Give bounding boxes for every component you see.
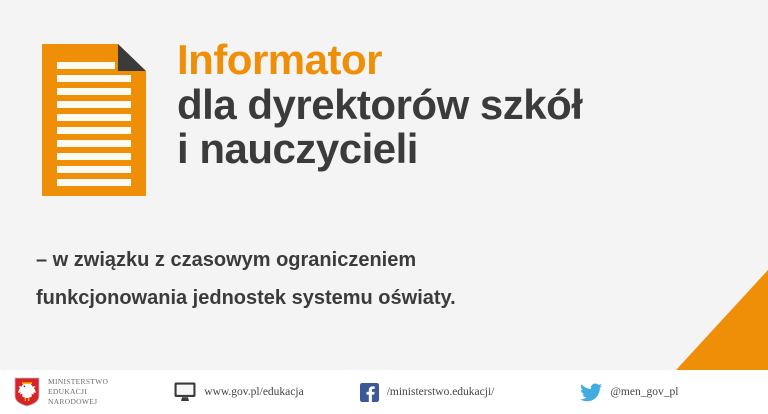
ministry-name-line-1: MINISTERSTWO <box>48 377 108 386</box>
poster-canvas: Informator dla dyrektorów szkół i nauczy… <box>0 0 768 414</box>
footer-bar: MINISTERSTWO EDUKACJI NARODOWEJ www.gov.… <box>0 370 768 414</box>
facebook-icon <box>360 383 379 402</box>
hero-section: Informator dla dyrektorów szkół i nauczy… <box>0 0 768 370</box>
document-icon <box>42 44 146 196</box>
facebook-link[interactable]: /ministerstwo.edukacji/ <box>360 383 495 402</box>
subtitle-line-1: – w związku z czasowym ograniczeniem <box>36 241 676 279</box>
ministry-name-line-2: EDUKACJI <box>48 387 87 396</box>
page-title: Informator dla dyrektorów szkół i nauczy… <box>177 38 747 172</box>
website-link[interactable]: www.gov.pl/edukacja <box>174 382 303 402</box>
monitor-icon <box>174 382 196 402</box>
subtitle-block: – w związku z czasowym ograniczeniem fun… <box>36 241 676 317</box>
title-line-informator: Informator <box>177 38 747 83</box>
ministry-name: MINISTERSTWO EDUKACJI NARODOWEJ <box>48 377 108 407</box>
title-line-i-nauczycieli: i nauczycieli <box>177 127 747 172</box>
ministry-branding: MINISTERSTWO EDUKACJI NARODOWEJ <box>14 377 108 407</box>
website-label: www.gov.pl/edukacja <box>204 386 303 398</box>
facebook-label: /ministerstwo.edukacji/ <box>387 386 495 398</box>
title-line-dla-dyrektorow: dla dyrektorów szkół <box>177 83 747 128</box>
ministry-name-line-3: NARODOWEJ <box>48 397 97 406</box>
twitter-icon <box>580 383 602 402</box>
subtitle-line-2: funkcjonowania jednostek systemu oświaty… <box>36 279 676 317</box>
polish-coat-of-arms-icon <box>14 377 40 407</box>
twitter-link[interactable]: @men_gov_pl <box>580 383 678 402</box>
twitter-label: @men_gov_pl <box>610 386 678 398</box>
